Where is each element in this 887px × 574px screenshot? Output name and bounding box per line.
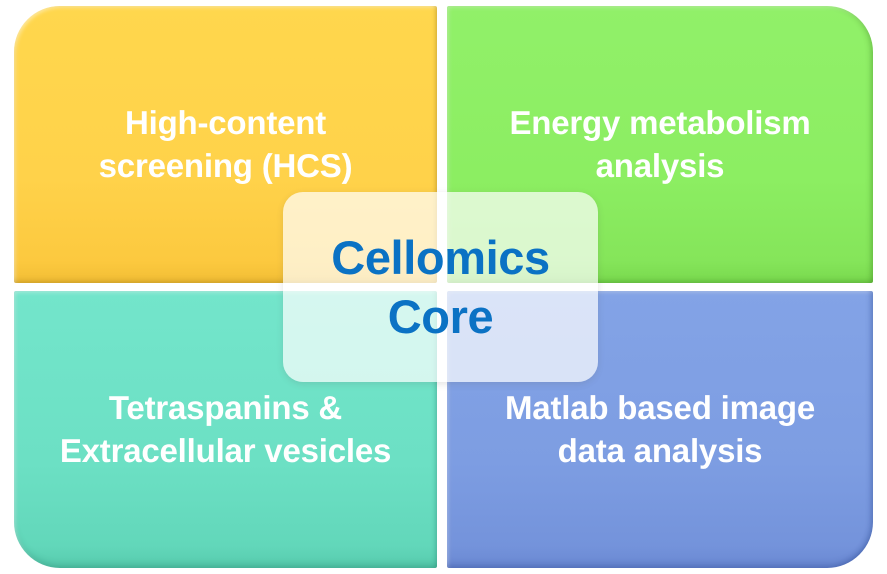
- quadrant-label-top-left-line1: High-content: [125, 104, 326, 141]
- quadrant-label-top-left: High-content screening (HCS): [85, 102, 367, 188]
- quadrant-label-top-right-line1: Energy metabolism: [509, 104, 810, 141]
- center-title-line2: Core: [388, 289, 493, 344]
- quadrant-label-bottom-left-line2: Extracellular vesicles: [60, 432, 391, 469]
- quadrant-label-bottom-right-line1: Matlab based image: [505, 389, 815, 426]
- quadrant-label-top-right: Energy metabolism analysis: [495, 102, 824, 188]
- quadrant-label-top-right-line2: analysis: [596, 147, 725, 184]
- quadrant-label-bottom-right: Matlab based image data analysis: [491, 387, 829, 473]
- quadrant-label-top-left-line2: screening (HCS): [99, 147, 353, 184]
- center-title-line1: Cellomics: [331, 230, 549, 285]
- quadrant-label-bottom-left-line1: Tetraspanins &: [109, 389, 342, 426]
- quadrant-label-bottom-left: Tetraspanins & Extracellular vesicles: [46, 387, 405, 473]
- cellomics-core-diagram: High-content screening (HCS) Energy meta…: [0, 0, 887, 574]
- center-badge[interactable]: Cellomics Core: [283, 192, 598, 382]
- quadrant-label-bottom-right-line2: data analysis: [558, 432, 763, 469]
